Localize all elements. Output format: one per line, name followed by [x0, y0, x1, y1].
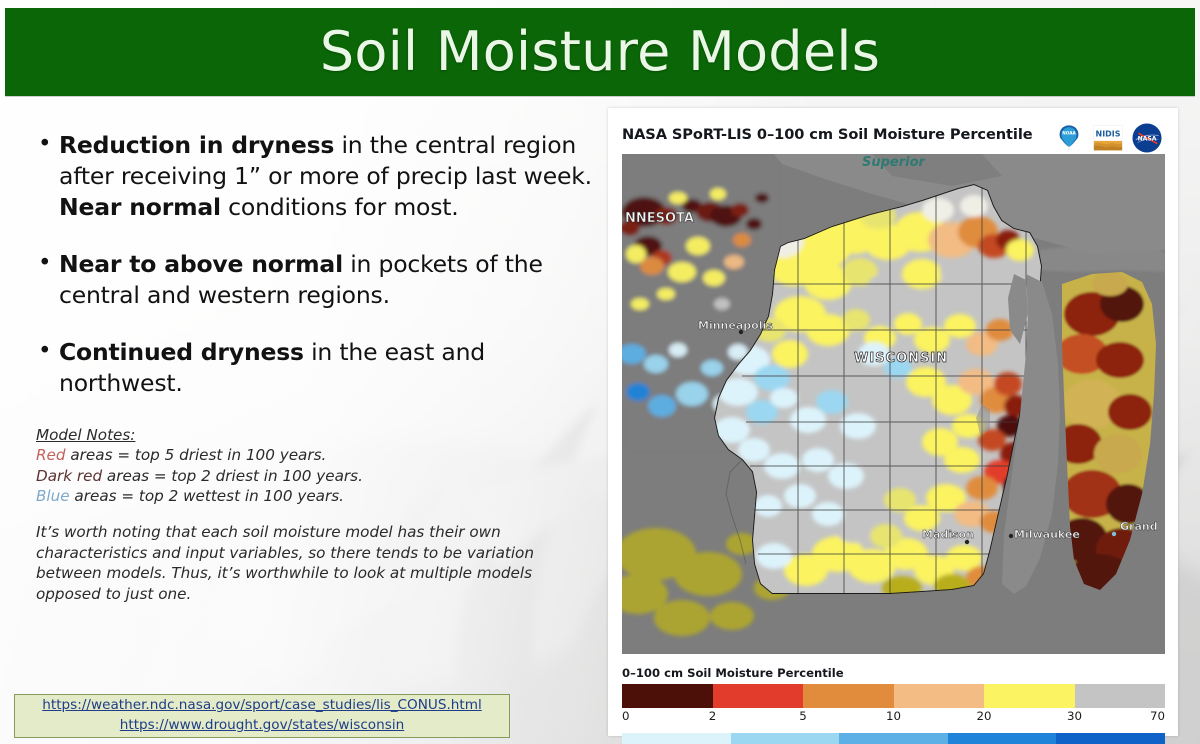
map-panel: NASA SPoRT-LIS 0–100 cm Soil Moisture Pe…: [608, 108, 1178, 736]
dry-seg-5-10: [803, 684, 894, 708]
dry-tick-10: 10: [886, 709, 901, 723]
dry-seg-20-30: [984, 684, 1075, 708]
legend-key-dark-red: Dark red: [36, 467, 102, 485]
dry-seg-10-20: [894, 684, 985, 708]
nasa-logo: NASA: [1132, 123, 1162, 153]
wet-seg-95-98: [948, 733, 1057, 744]
bullet-list: Reduction in dryness in the central regi…: [36, 130, 596, 399]
dry-colorbar-ticks: 0 2 5 10 20 30 70: [622, 709, 1165, 726]
svg-text:WISCONSIN: WISCONSIN: [854, 351, 948, 366]
legend-key-blue: Blue: [36, 487, 70, 505]
model-notes-red-line: Red areas = top 5 driest in 100 years.: [36, 445, 596, 465]
legend-text-red: areas = top 5 driest in 100 years.: [66, 446, 327, 464]
list-item: Reduction in dryness in the central regi…: [36, 130, 596, 223]
svg-text:NNESOTA: NNESOTA: [625, 211, 694, 226]
link-drought-gov-wisconsin[interactable]: https://www.drought.gov/states/wisconsin: [120, 716, 404, 736]
legend-text-blue: areas = top 2 wettest in 100 years.: [70, 487, 344, 505]
agency-logos: NOAA NIDIS NASA: [1054, 123, 1162, 153]
wet-seg-90-95: [839, 733, 948, 744]
map-panel-header: NASA SPoRT-LIS 0–100 cm Soil Moisture Pe…: [622, 119, 1168, 149]
dry-colorbar: 0 2 5 10 20 30 70: [622, 684, 1165, 726]
wet-seg-70-80: [622, 733, 731, 744]
model-notes-darkred-line: Dark red areas = top 2 driest in 100 yea…: [36, 466, 596, 486]
map-title: NASA SPoRT-LIS 0–100 cm Soil Moisture Pe…: [622, 126, 1033, 143]
colorbar-title: 0–100 cm Soil Moisture Percentile: [622, 666, 844, 680]
soil-moisture-map[interactable]: NNESOTA Superior Minneapolis WISCONSIN M…: [622, 154, 1165, 654]
dry-colorbar-bar: [622, 684, 1165, 708]
legend-key-red: Red: [36, 446, 66, 464]
svg-text:NOAA: NOAA: [1062, 130, 1076, 135]
model-notes-heading: Model Notes:: [36, 425, 596, 445]
model-notes-paragraph: It’s worth noting that each soil moistur…: [36, 522, 541, 605]
dry-tick-70: 70: [1150, 709, 1165, 723]
dry-tick-2: 2: [709, 709, 717, 723]
svg-text:Madison: Madison: [922, 528, 974, 541]
svg-text:NASA: NASA: [1138, 135, 1157, 142]
link-nasa-sport[interactable]: https://weather.ndc.nasa.gov/sport/case_…: [42, 696, 482, 716]
svg-text:Milwaukee: Milwaukee: [1014, 528, 1080, 541]
dry-seg-0-2: [622, 684, 713, 708]
wet-colorbar: 70 80 90 95 98 100: [622, 733, 1165, 744]
list-item: Continued dryness in the east and northw…: [36, 337, 596, 399]
wet-seg-80-90: [731, 733, 840, 744]
dry-seg-30-70: [1075, 684, 1166, 708]
slide-root: Soil Moisture Models Reduction in drynes…: [0, 0, 1200, 744]
legend-text-dark-red: areas = top 2 driest in 100 years.: [102, 467, 363, 485]
svg-text:Superior: Superior: [862, 155, 927, 170]
left-content-column: Reduction in dryness in the central regi…: [36, 130, 596, 605]
bullet-3-bold-lead: Continued dryness: [59, 338, 304, 366]
dry-tick-5: 5: [799, 709, 807, 723]
model-notes-blue-line: Blue areas = top 2 wettest in 100 years.: [36, 486, 596, 506]
dry-tick-20: 20: [976, 709, 991, 723]
dry-tick-0: 0: [622, 709, 630, 723]
bullet-2-bold-lead: Near to above normal: [59, 250, 343, 278]
svg-text:Grand: Grand: [1120, 520, 1158, 533]
list-item: Near to above normal in pockets of the c…: [36, 249, 596, 311]
bullet-1-bold-lead: Reduction in dryness: [59, 131, 334, 159]
bullet-1-text-second: conditions for most.: [221, 193, 459, 221]
dry-seg-2-5: [713, 684, 804, 708]
wet-colorbar-bar: [622, 733, 1165, 744]
svg-text:Minneapolis: Minneapolis: [698, 319, 773, 332]
slide-title-bar: Soil Moisture Models: [5, 8, 1195, 96]
dry-tick-30: 30: [1067, 709, 1082, 723]
page-title: Soil Moisture Models: [320, 25, 880, 79]
nidis-logo: NIDIS: [1093, 123, 1123, 153]
model-notes: Model Notes: Red areas = top 5 driest in…: [36, 425, 596, 605]
noaa-logo: NOAA: [1054, 123, 1084, 153]
bullet-1-bold-second: Near normal: [59, 193, 221, 221]
svg-text:NIDIS: NIDIS: [1096, 130, 1121, 139]
wet-seg-98-100: [1056, 733, 1165, 744]
source-links-box: https://weather.ndc.nasa.gov/sport/case_…: [14, 694, 510, 738]
